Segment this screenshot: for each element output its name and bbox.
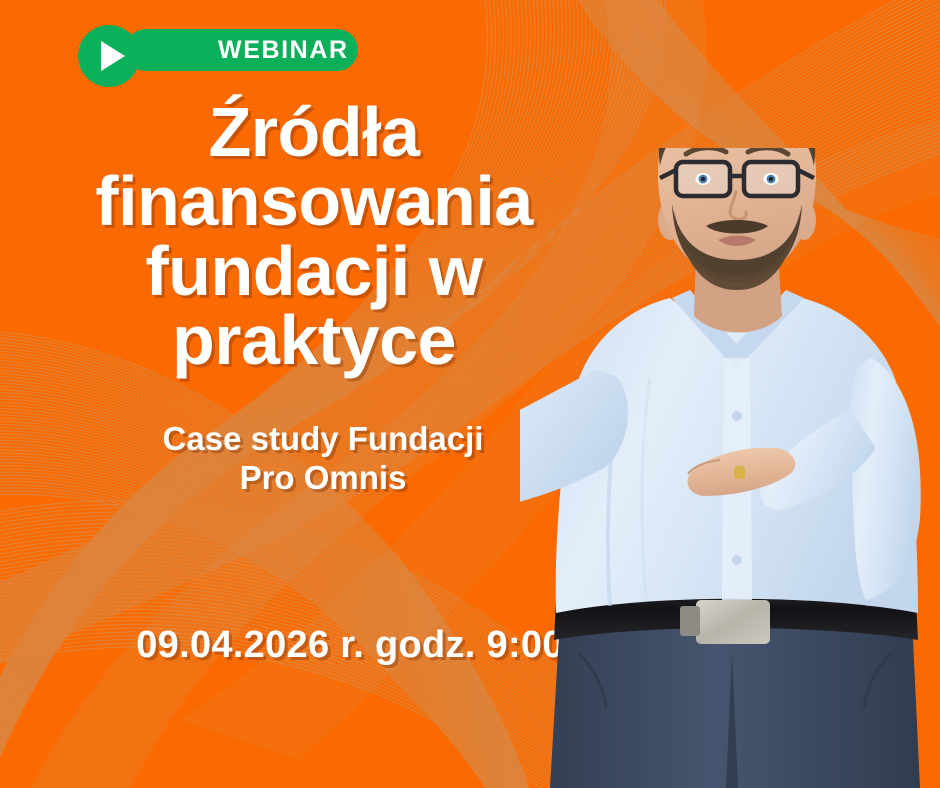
play-triangle-icon — [101, 41, 125, 71]
presenter-photo — [520, 148, 940, 788]
presenter-head — [658, 148, 816, 290]
webinar-poster: WEBINAR Źródła finansowania fundacji w p… — [0, 0, 940, 788]
play-icon — [78, 25, 140, 87]
badge-label: WEBINAR — [218, 29, 349, 71]
